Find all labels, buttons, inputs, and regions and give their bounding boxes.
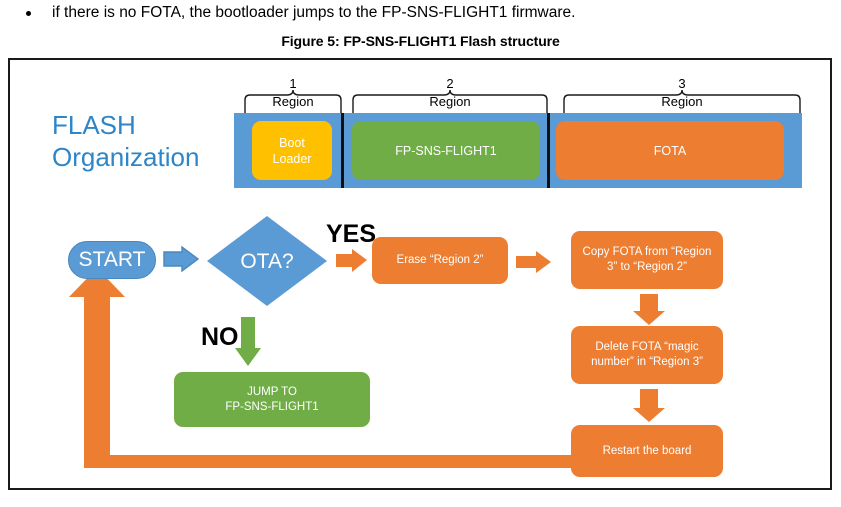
flow-node-erase-region2[interactable]: Erase “Region 2” <box>372 237 508 284</box>
region-label-1: 1 Region <box>243 78 343 114</box>
flash-block-boot-loader: Boot Loader <box>252 121 332 180</box>
region-label-2: 2 Region <box>351 78 549 114</box>
flow-node-jump-label: JUMP TO FP-SNS-FLIGHT1 <box>225 385 318 415</box>
branch-label-no: NO <box>201 323 239 352</box>
flow-node-restart-board[interactable]: Restart the board <box>571 425 723 477</box>
flow-node-erase-label: Erase “Region 2” <box>397 253 484 268</box>
region-number-3: 3 <box>678 76 685 91</box>
flow-node-ota-label: OTA? <box>206 215 328 307</box>
flash-title-line-1: FLASH <box>52 109 242 141</box>
flow-node-ota-decision[interactable]: OTA? <box>206 215 328 307</box>
flow-node-copy-label: Copy FOTA from “Region 3” to “Region 2” <box>577 245 717 275</box>
flash-organization-title: FLASH Organization <box>52 109 242 173</box>
region-word-2: Region <box>351 94 549 109</box>
flash-title-line-2: Organization <box>52 141 242 173</box>
region-number-1: 1 <box>289 76 296 91</box>
flow-node-jump-to-firmware[interactable]: JUMP TO FP-SNS-FLIGHT1 <box>174 372 370 427</box>
bullet-point-icon <box>26 11 31 16</box>
flash-block-application-label: FP-SNS-FLIGHT1 <box>395 143 496 159</box>
document-bullet-line: if there is no FOTA, the bootloader jump… <box>26 2 826 28</box>
flow-node-delete-label: Delete FOTA “magic number” in “Region 3” <box>577 340 717 370</box>
flash-divider-1 <box>341 113 344 188</box>
region-word-1: Region <box>243 94 343 109</box>
flow-node-start[interactable]: START <box>68 241 156 279</box>
flash-block-boot-loader-label: Boot Loader <box>273 135 312 167</box>
bullet-text: if there is no FOTA, the bootloader jump… <box>52 2 575 24</box>
flash-divider-2 <box>547 113 550 188</box>
flash-memory-bar: Boot Loader FP-SNS-FLIGHT1 FOTA <box>234 113 802 188</box>
flash-block-fota: FOTA <box>556 121 784 180</box>
region-word-3: Region <box>562 94 802 109</box>
figure-caption: Figure 5: FP-SNS-FLIGHT1 Flash structure <box>0 33 841 49</box>
flash-block-fota-label: FOTA <box>654 143 686 159</box>
flow-node-restart-label: Restart the board <box>603 444 692 459</box>
region-label-3: 3 Region <box>562 78 802 114</box>
region-number-2: 2 <box>446 76 453 91</box>
flash-block-application: FP-SNS-FLIGHT1 <box>352 121 540 180</box>
flow-node-delete-magic-number[interactable]: Delete FOTA “magic number” in “Region 3” <box>571 326 723 384</box>
flow-node-copy-fota[interactable]: Copy FOTA from “Region 3” to “Region 2” <box>571 231 723 289</box>
branch-label-yes: YES <box>326 220 376 249</box>
flow-node-start-label: START <box>79 248 146 272</box>
